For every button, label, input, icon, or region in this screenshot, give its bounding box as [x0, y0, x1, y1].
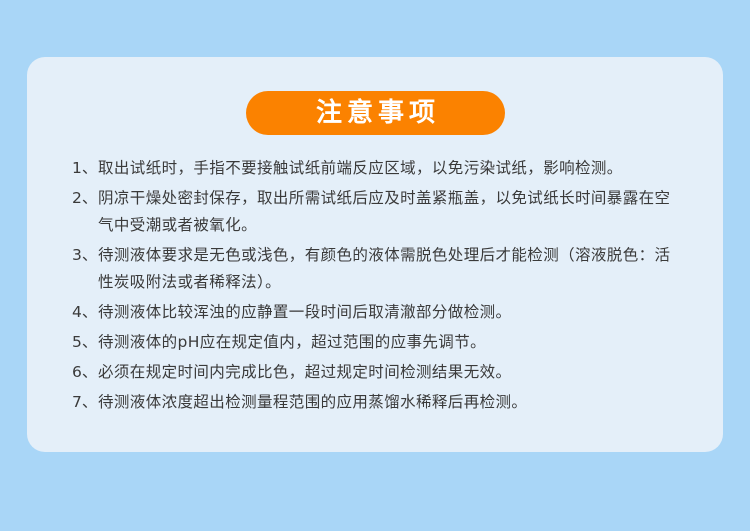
list-item-marker: 4、	[72, 299, 98, 326]
list-item: 6、 必须在规定时间内完成比色，超过规定时间检测结果无效。	[72, 359, 680, 386]
list-item-marker: 3、	[72, 242, 98, 269]
list-item: 4、 待测液体比较浑浊的应静置一段时间后取清澈部分做检测。	[72, 299, 680, 326]
page-title: 注意事项	[311, 100, 440, 126]
list-item-text: 待测液体要求是无色或浅色，有颜色的液体需脱色处理后才能检测（溶液脱色：活性炭吸附…	[98, 242, 680, 296]
list-item-text: 待测液体浓度超出检测量程范围的应用蒸馏水稀释后再检测。	[98, 389, 680, 416]
list-item-text: 阴凉干燥处密封保存，取出所需试纸后应及时盖紧瓶盖，以免试纸长时间暴露在空气中受潮…	[98, 185, 680, 239]
list-item-marker: 1、	[72, 155, 98, 182]
notice-card-stage: 注意事项 1、 取出试纸时，手指不要接触试纸前端反应区域，以免污染试纸，影响检测…	[0, 0, 750, 531]
list-item: 1、 取出试纸时，手指不要接触试纸前端反应区域，以免污染试纸，影响检测。	[72, 155, 680, 182]
list-item-text: 必须在规定时间内完成比色，超过规定时间检测结果无效。	[98, 359, 680, 386]
list-item: 2、 阴凉干燥处密封保存，取出所需试纸后应及时盖紧瓶盖，以免试纸长时间暴露在空气…	[72, 185, 680, 239]
list-item-marker: 7、	[72, 389, 98, 416]
list-item-text: 取出试纸时，手指不要接触试纸前端反应区域，以免污染试纸，影响检测。	[98, 155, 680, 182]
list-item: 5、 待测液体的pH应在规定值内，超过范围的应事先调节。	[72, 329, 680, 356]
list-item-text: 待测液体的pH应在规定值内，超过范围的应事先调节。	[98, 329, 680, 356]
list-item: 7、 待测液体浓度超出检测量程范围的应用蒸馏水稀释后再检测。	[72, 389, 680, 416]
list-item-marker: 5、	[72, 329, 98, 356]
notice-list: 1、 取出试纸时，手指不要接触试纸前端反应区域，以免污染试纸，影响检测。 2、 …	[72, 155, 680, 419]
list-item-marker: 2、	[72, 185, 98, 212]
notice-title-banner: 注意事项	[246, 91, 505, 135]
list-item: 3、 待测液体要求是无色或浅色，有颜色的液体需脱色处理后才能检测（溶液脱色：活性…	[72, 242, 680, 296]
list-item-marker: 6、	[72, 359, 98, 386]
list-item-text: 待测液体比较浑浊的应静置一段时间后取清澈部分做检测。	[98, 299, 680, 326]
